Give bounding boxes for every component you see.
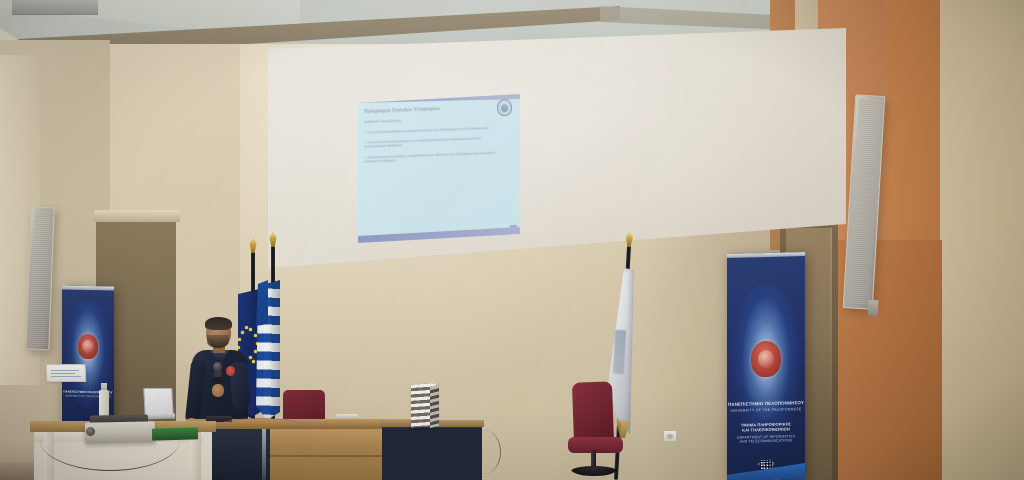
university-crest-icon	[751, 341, 781, 378]
sign-text-line	[51, 370, 79, 371]
wall-pillar-beige-2	[940, 0, 1024, 480]
eu-star	[254, 350, 257, 353]
presenter-hair	[205, 317, 232, 330]
gift-bag-side	[430, 385, 439, 428]
slide-title: Πρόγραμμα Σπουδών Υποψηφίων	[364, 103, 514, 114]
burgundy-office-chair-back	[572, 381, 614, 444]
wall-power-outlet	[663, 430, 677, 442]
banner-top-rail	[62, 286, 114, 291]
banner-dept-gr-2: ΚΑΙ ΤΗΛΕΠΙΚΟΙΝΩΝΙΩΝ	[727, 426, 805, 433]
podium-panel-seam	[270, 455, 400, 457]
rollup-banner-right: ΠΑΝΕΠΙΣΤΗΜΙΟ ΠΕΛΟΠΟΝΝΗΣΟΥ UNIVERSITY OF …	[727, 252, 805, 480]
slide-bullet: Οι φοιτητές/τριες θα εξοικειωθούν με τα …	[364, 136, 496, 149]
printed-sign	[46, 364, 87, 382]
slide-bullet: Οι φοιτητές θα εισαχθούν με τη βασική ει…	[364, 126, 496, 135]
eu-star	[254, 334, 257, 337]
sign-text-line	[51, 373, 75, 374]
speaker-mount-bracket	[867, 300, 878, 317]
slide-bullet: Οι φοιτητές/τριες θα μπορούν να εξειδικε…	[364, 150, 496, 163]
power-adapter	[336, 414, 358, 419]
lecture-hall-photo: Πρόγραμμα Σπουδών Υποψηφίων Διάρθρωση Πρ…	[0, 0, 1024, 480]
cable	[460, 430, 501, 474]
shirt-logo	[226, 366, 235, 376]
presenter-hand-right	[212, 384, 224, 397]
chair-base	[571, 466, 617, 476]
sign-text-line	[51, 376, 81, 377]
projected-slide: Πρόγραμμα Σπουδών Υποψηφίων Διάρθρωση Πρ…	[358, 94, 520, 243]
speaker-grille	[29, 211, 50, 347]
green-equipment-case	[152, 427, 198, 440]
university-flag-emblem	[613, 330, 626, 375]
doorway-left-frame	[94, 210, 180, 222]
banner-org-en: UNIVERSITY OF THE PELOPONNESE	[727, 407, 805, 413]
banner-org-gr: ΠΑΝΕΠΙΣΤΗΜΙΟ ΠΕΛΟΠΟΝΝΗΣΟΥ	[727, 400, 805, 407]
banner-text-block: ΠΑΝΕΠΙΣΤΗΜΙΟ ΠΕΛΟΠΟΝΝΗΣΟΥ UNIVERSITY OF …	[727, 400, 805, 444]
microphone-head-icon	[213, 362, 222, 371]
slide-content: Πρόγραμμα Σπουδών Υποψηφίων Διάρθρωση Πρ…	[364, 106, 514, 226]
university-crest-icon	[78, 334, 98, 359]
projector-lens-icon	[86, 427, 95, 436]
banner-top-rail	[727, 252, 805, 258]
presenter-beard	[207, 335, 229, 348]
ceiling-vent	[12, 0, 98, 15]
slide-subtitle: Διάρθρωση Προγράμματος	[364, 114, 514, 123]
